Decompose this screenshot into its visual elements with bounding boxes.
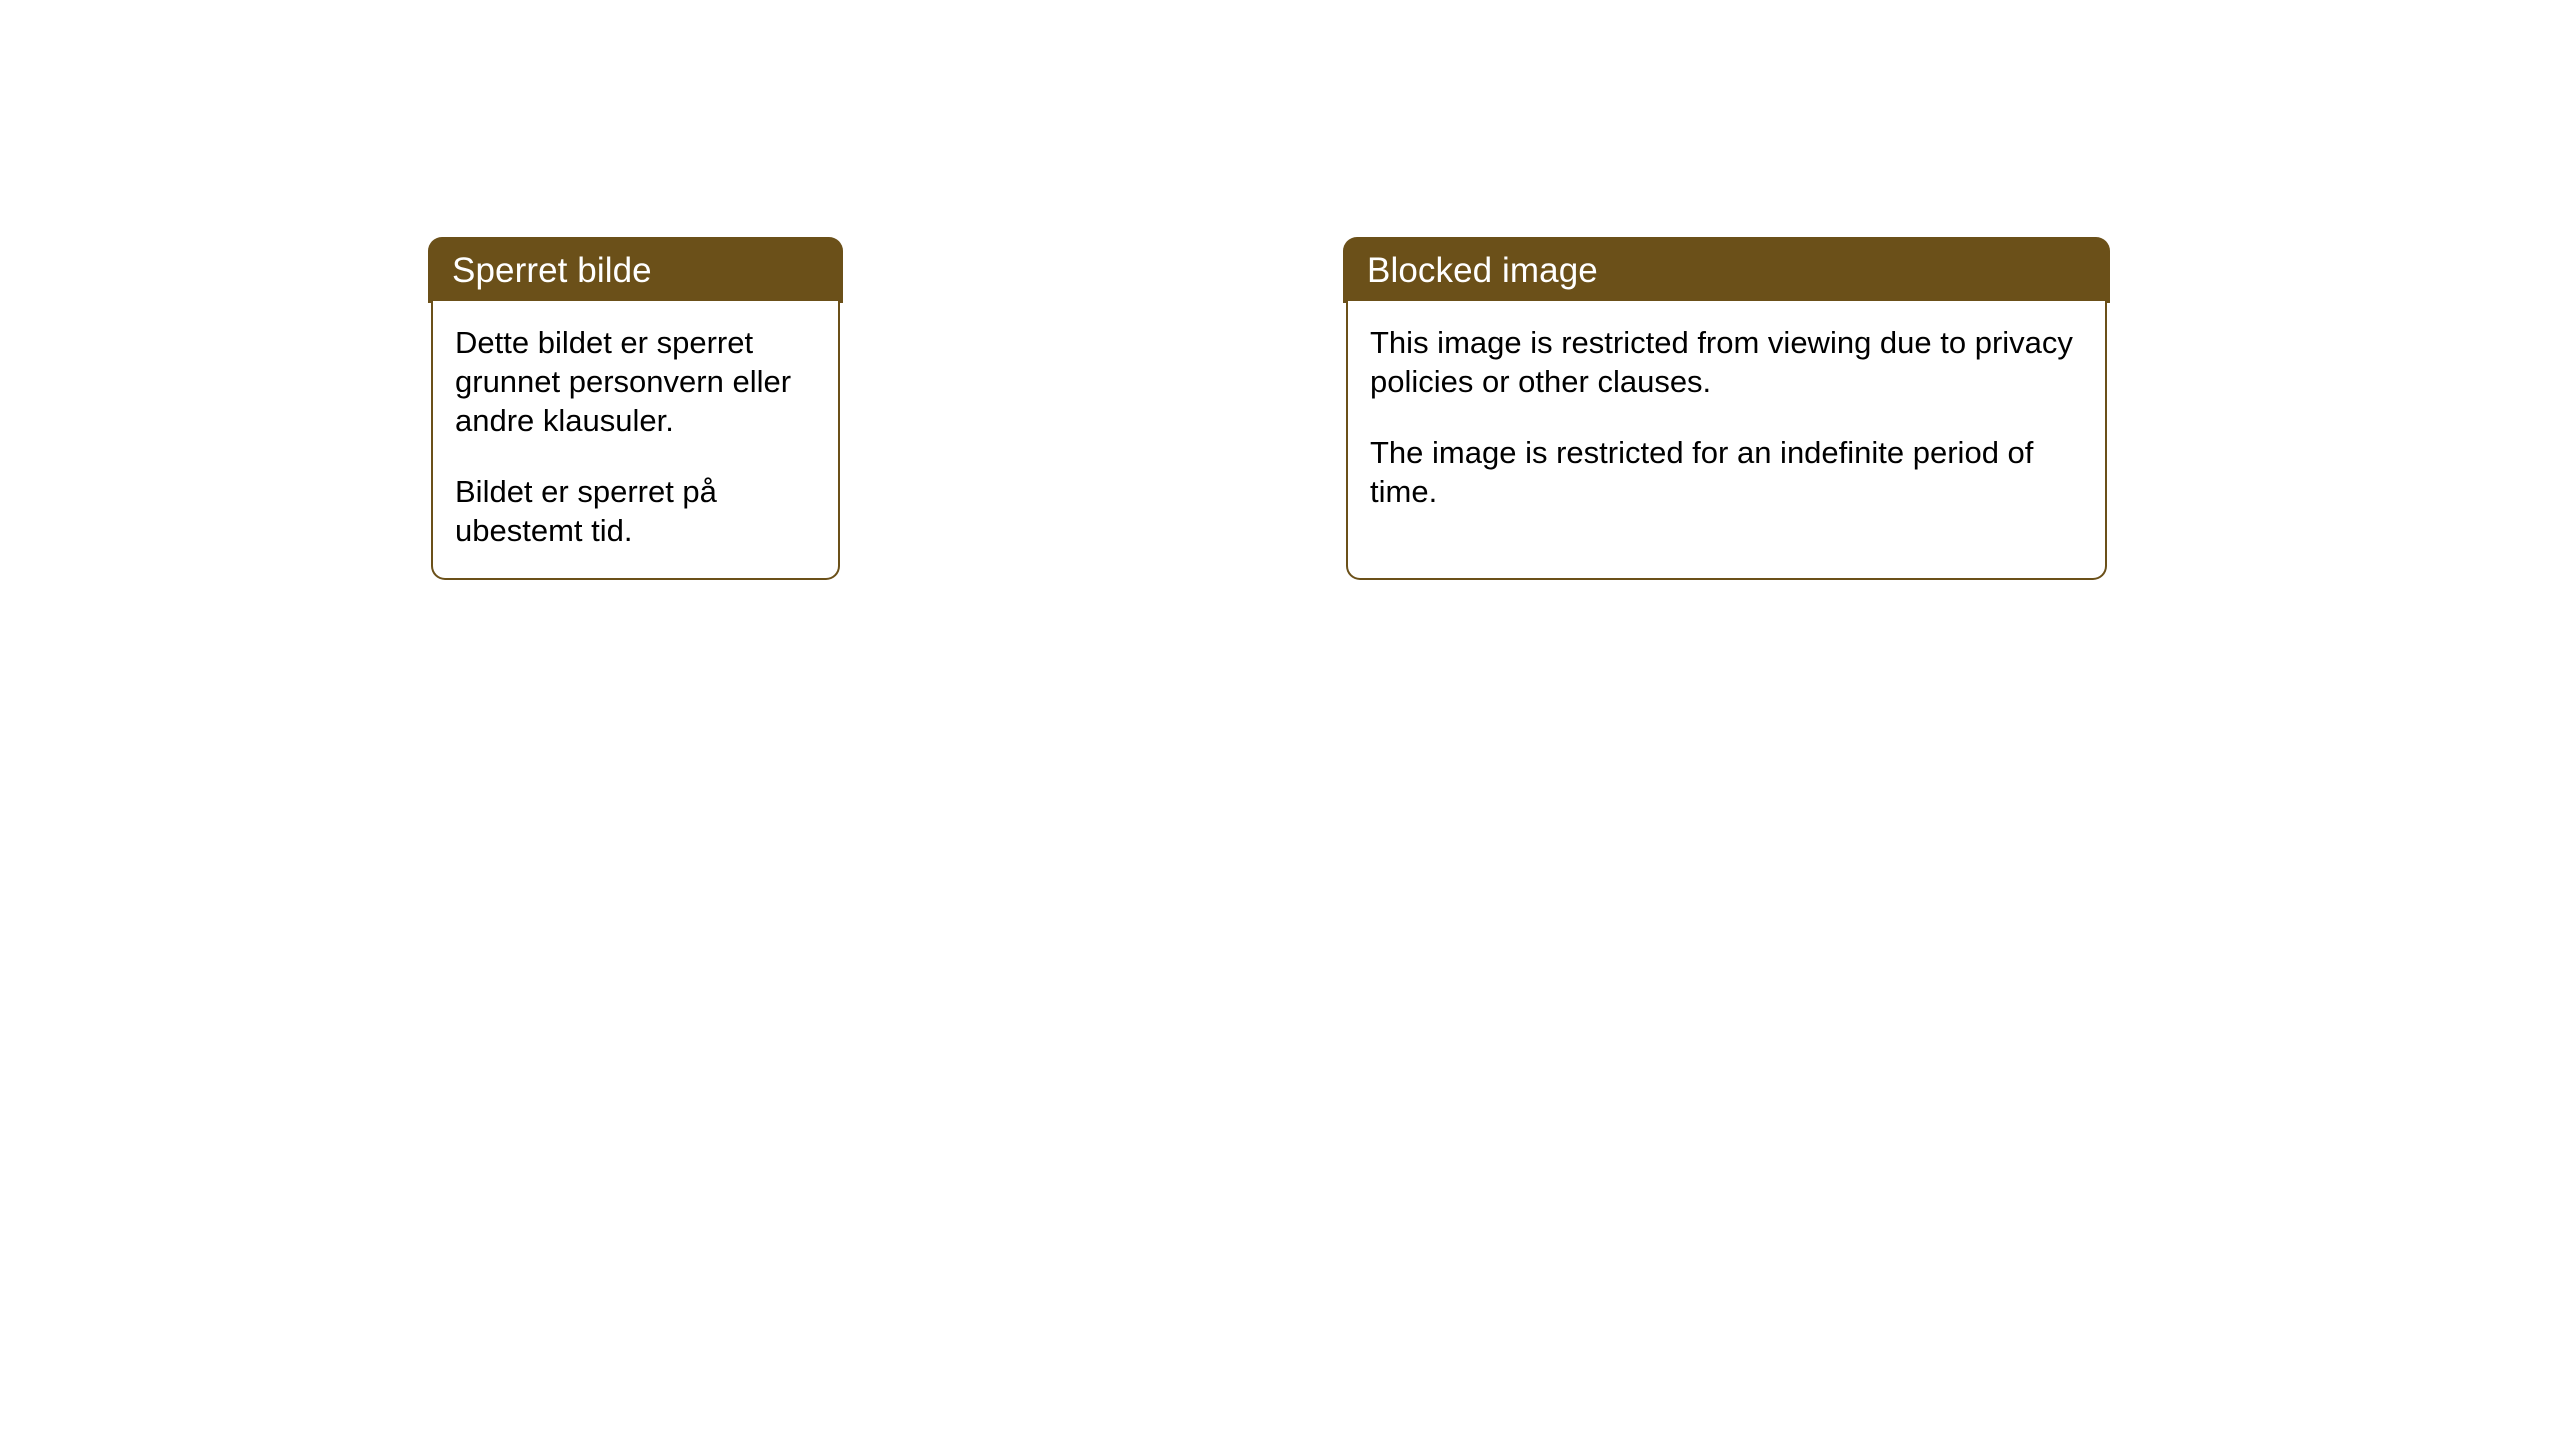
notice-paragraph-reason-norwegian: Dette bildet er sperret grunnet personve… [455, 323, 818, 440]
notice-body-english: This image is restricted from viewing du… [1346, 301, 2107, 580]
notice-title-english: Blocked image [1367, 253, 1598, 288]
notice-body-norwegian: Dette bildet er sperret grunnet personve… [431, 301, 840, 580]
notice-title-norwegian: Sperret bilde [452, 253, 652, 288]
notice-paragraph-duration-english: The image is restricted for an indefinit… [1370, 433, 2085, 511]
page-canvas: Sperret bilde Dette bildet er sperret gr… [0, 0, 2560, 1440]
notice-header-norwegian: Sperret bilde [428, 237, 843, 303]
notice-paragraph-duration-norwegian: Bildet er sperret på ubestemt tid. [455, 472, 818, 550]
notice-header-english: Blocked image [1343, 237, 2110, 303]
notice-paragraph-reason-english: This image is restricted from viewing du… [1370, 323, 2085, 401]
